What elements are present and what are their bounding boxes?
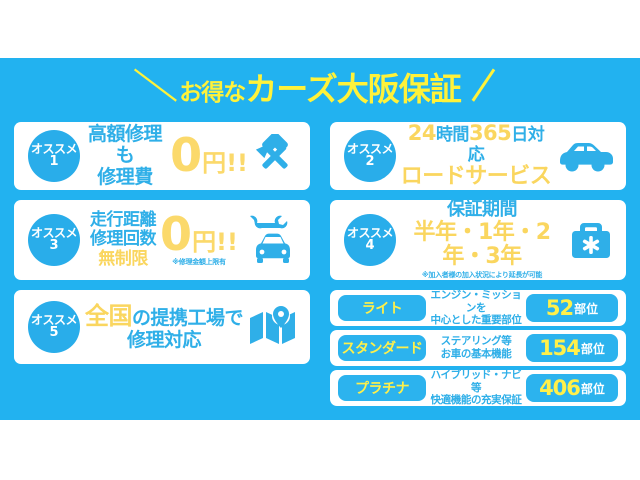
feature-5-line1-rest: の提携工場で [132, 307, 243, 329]
feature-3-text: 走行距離 修理回数 無制限 [90, 211, 156, 268]
feature-5-text: 全国の提携工場で 修理対応 [85, 303, 243, 351]
plan-count-pill-platinum: 406 部位 [526, 374, 618, 402]
badge-number: 3 [49, 239, 58, 253]
feature-4-line2: 半年・1年・2年・3年 [400, 221, 564, 270]
feature-1-line1: 高額修理も [84, 124, 166, 167]
feature-3-price-group: 0 円!! ※修理金額上限有 [160, 213, 238, 267]
feature-card-2-body: 24時間365日対応 ロードサービス [396, 122, 556, 189]
plan-count-pill-standard: 154 部位 [526, 334, 618, 362]
slash-left-decoration: ＼ [134, 70, 179, 104]
hammer-tools-icon [252, 134, 298, 178]
feature-1-price: 0 円!! [170, 134, 248, 178]
feature-card-1: オススメ 1 高額修理も 修理費 0 円!! [14, 122, 310, 190]
price-number: 0 [170, 134, 202, 178]
recommend-badge-3: オススメ 3 [28, 214, 80, 266]
feature-3-line3: 無制限 [90, 250, 156, 269]
plan-desc-line1: ハイブリッド・ナビ等 [426, 369, 526, 395]
plan-count-number: 154 [539, 336, 580, 360]
plan-name-pill-platinum[interactable]: プラチナ [338, 375, 426, 401]
wrench-car-icon [248, 214, 298, 266]
feature-2-line2: ロードサービス [400, 165, 552, 190]
feature-4-note: ※加入者様の加入状況により延長が可能 [400, 272, 564, 280]
title-main: カーズ大阪保証 [245, 64, 460, 110]
feature-3-line2: 修理回数 [90, 230, 156, 249]
plan-desc-line2: 快適機能の充実保証 [426, 394, 526, 407]
hours-number: 24 [408, 121, 436, 145]
feature-2-line1: 24時間365日対応 [400, 122, 552, 165]
banner-title: ＼ お得な カーズ大阪保証 ／ [0, 62, 640, 112]
feature-5-line2: 修理対応 [85, 330, 243, 351]
nationwide-highlight: 全国 [85, 302, 132, 330]
plan-description-platinum: ハイブリッド・ナビ等 快適機能の充実保証 [426, 369, 526, 407]
badge-number: 5 [49, 326, 58, 340]
plan-description-standard: ステアリング等 お車の基本機能 [426, 335, 526, 361]
plan-count-unit: 部位 [581, 380, 605, 397]
price-unit: 円!! [192, 222, 238, 257]
plan-row-platinum[interactable]: プラチナ ハイブリッド・ナビ等 快適機能の充実保証 406 部位 [330, 370, 626, 406]
title-prefix: お得な [179, 73, 245, 107]
feature-2-text: 24時間365日対応 ロードサービス [400, 122, 552, 189]
plan-desc-line2: お車の基本機能 [426, 348, 526, 361]
plan-count-number: 406 [539, 376, 580, 400]
plan-name-pill-standard[interactable]: スタンダード [338, 335, 426, 361]
badge-number: 1 [49, 155, 58, 169]
feature-1-line2: 修理費 [84, 167, 166, 188]
feature-1-text: 高額修理も 修理費 [84, 124, 166, 188]
feature-4-text: 保証期間 半年・1年・2年・3年 ※加入者様の加入状況により延長が可能 [400, 200, 564, 279]
feature-3-line1: 走行距離 [90, 211, 156, 230]
recommend-badge-1: オススメ 1 [28, 130, 80, 182]
feature-3-price: 0 円!! [160, 213, 238, 257]
feature-card-4-body: 保証期間 半年・1年・2年・3年 ※加入者様の加入状況により延長が可能 [396, 200, 568, 279]
advertisement-banner: ＼ お得な カーズ大阪保証 ／ オススメ 1 高額修理も 修理費 0 円!! [0, 0, 640, 480]
feature-card-5: オススメ 5 全国の提携工場で 修理対応 [14, 290, 310, 364]
plan-count-number: 52 [546, 296, 573, 320]
feature-card-4: オススメ 4 保証期間 半年・1年・2年・3年 ※加入者様の加入状況により延長が… [330, 200, 626, 280]
plan-count-unit: 部位 [581, 340, 605, 357]
feature-3-note: ※修理金額上限有 [172, 257, 225, 267]
price-number: 0 [160, 213, 192, 257]
recommend-badge-2: オススメ 2 [344, 130, 396, 182]
car-side-icon [556, 139, 614, 173]
plan-name-pill-light[interactable]: ライト [338, 295, 426, 321]
plan-count-unit: 部位 [574, 300, 598, 317]
hours-unit: 時間 [436, 125, 469, 145]
plan-desc-line1: エンジン・ミッションを [426, 289, 526, 315]
feature-card-1-body: 高額修理も 修理費 0 円!! [80, 124, 252, 188]
plan-count-pill-light: 52 部位 [526, 294, 618, 322]
badge-number: 4 [365, 239, 374, 253]
plan-row-light[interactable]: ライト エンジン・ミッションを 中心とした重要部位 52 部位 [330, 290, 626, 326]
map-pin-icon [248, 306, 298, 348]
feature-card-5-body: 全国の提携工場で 修理対応 [80, 303, 248, 351]
feature-card-3: オススメ 3 走行距離 修理回数 無制限 0 円!! ※修理金額上限有 [14, 200, 310, 280]
plan-desc-line2: 中心とした重要部位 [426, 314, 526, 327]
toolbox-icon [568, 217, 614, 263]
feature-card-2: オススメ 2 24時間365日対応 ロードサービス [330, 122, 626, 190]
recommend-badge-4: オススメ 4 [344, 214, 396, 266]
days-number: 365 [469, 121, 511, 145]
feature-5-line1: 全国の提携工場で [85, 303, 243, 330]
plan-desc-line1: ステアリング等 [426, 335, 526, 348]
plan-row-standard[interactable]: スタンダード ステアリング等 お車の基本機能 154 部位 [330, 330, 626, 366]
title-text: お得な カーズ大阪保証 [179, 64, 460, 110]
feature-card-3-body: 走行距離 修理回数 無制限 0 円!! ※修理金額上限有 [80, 211, 248, 268]
price-unit: 円!! [202, 143, 248, 178]
badge-number: 2 [365, 155, 374, 169]
slash-right-decoration: ／ [461, 70, 506, 104]
feature-4-line1: 保証期間 [400, 200, 564, 220]
plan-description-light: エンジン・ミッションを 中心とした重要部位 [426, 289, 526, 327]
recommend-badge-5: オススメ 5 [28, 301, 80, 353]
